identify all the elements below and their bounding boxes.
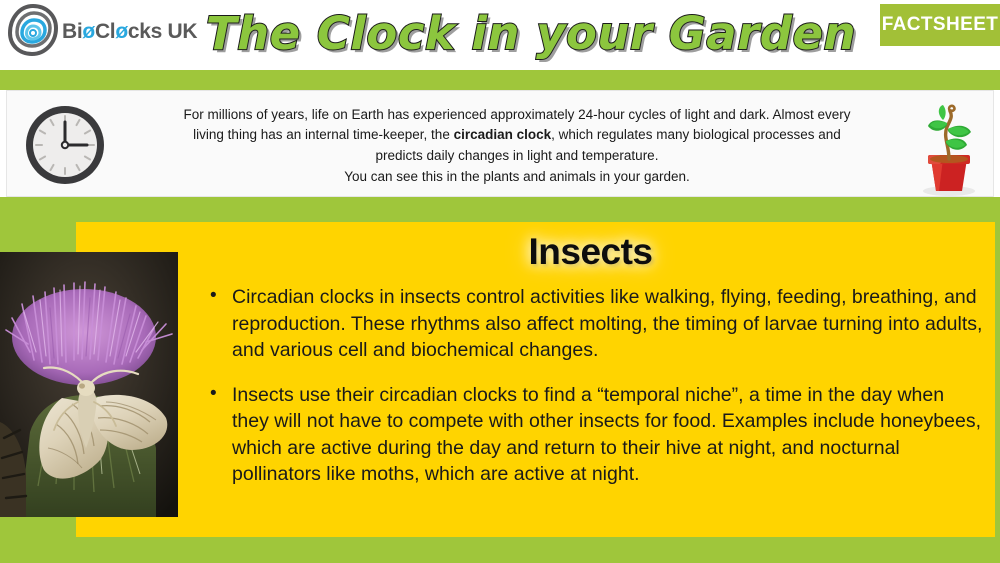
section-title: Insects xyxy=(186,226,995,278)
factsheet-page: BiøCløcks UK The Clock in your Garden FA… xyxy=(0,0,1000,563)
page-title: The Clock in your Garden xyxy=(186,2,876,64)
factsheet-badge: FACTSHEET xyxy=(880,4,1000,46)
bioclocks-logo-text: BiøCløcks UK xyxy=(62,20,197,44)
page-header: BiøCløcks UK The Clock in your Garden FA… xyxy=(0,0,1000,70)
bullet-list: Circadian clocks in insects control acti… xyxy=(208,284,983,506)
insects-content-panel: Insects Circadian clocks in insects cont… xyxy=(76,222,995,537)
moth-on-thistle-photo xyxy=(0,252,178,517)
intro-line-3: predicts daily changes in light and temp… xyxy=(117,146,917,167)
intro-text: For millions of years, life on Earth has… xyxy=(117,101,917,191)
intro-line-4: You can see this in the plants and anima… xyxy=(117,167,917,188)
intro-line-1: For millions of years, life on Earth has… xyxy=(117,105,917,126)
intro-panel: For millions of years, life on Earth has… xyxy=(6,90,994,197)
list-item: Insects use their circadian clocks to fi… xyxy=(208,382,983,488)
intro-line-2-pre: living thing has an internal time-keeper… xyxy=(193,127,453,142)
circadian-clock-emphasis: circadian clock xyxy=(454,127,552,142)
list-item: Circadian clocks in insects control acti… xyxy=(208,284,983,364)
bioclocks-spiral-icon xyxy=(6,3,60,62)
green-divider-bar xyxy=(0,70,1000,90)
intro-line-2-post: , which regulates many biological proces… xyxy=(551,127,841,142)
intro-line-2: living thing has an internal time-keeper… xyxy=(117,125,917,146)
bioclocks-uk-logo: BiøCløcks UK xyxy=(6,4,186,60)
